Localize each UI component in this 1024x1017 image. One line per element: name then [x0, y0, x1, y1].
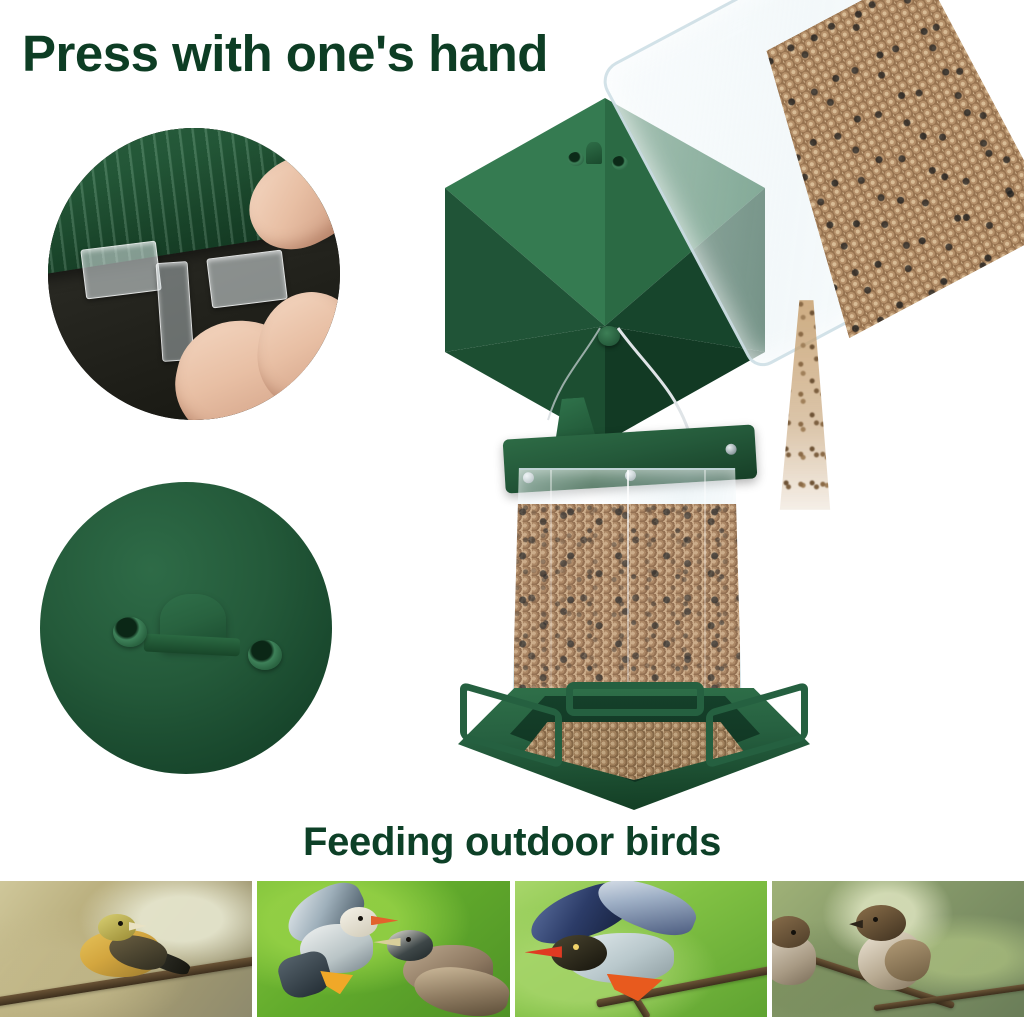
bird-eye	[791, 930, 796, 935]
bird-beak	[525, 946, 562, 957]
bird-head	[387, 930, 433, 960]
photo-greenfinch-on-branch	[0, 881, 252, 1017]
hanging-tab	[160, 594, 226, 650]
roof-grommet-left	[568, 152, 584, 166]
bird-eye	[118, 921, 123, 926]
photo-tree-sparrows	[772, 881, 1024, 1017]
grommet-hole-left	[113, 617, 147, 647]
bird-starling-right	[373, 925, 509, 1017]
photo-starlings-in-flight	[257, 881, 509, 1017]
perch-rail-back	[566, 682, 704, 716]
bird-photo-strip	[0, 881, 1024, 1017]
bird-beak	[129, 922, 147, 931]
section-caption: Feeding outdoor birds	[0, 820, 1024, 865]
roof-center-hub	[598, 326, 620, 346]
bird-eye	[406, 937, 411, 942]
bird-blue-magpie	[525, 889, 712, 1003]
product-marketing-image: Press with one's hand	[0, 0, 1024, 1017]
feeder-base-tray	[458, 660, 810, 820]
bird-eye	[358, 916, 363, 921]
screw-right	[725, 443, 737, 455]
grommet-hole-right	[248, 640, 282, 670]
roof-hanging-tab	[586, 142, 602, 164]
inset-hand-pressing-lid	[48, 128, 340, 420]
bird-sparrow-right	[847, 903, 933, 998]
bird-greenfinch	[76, 911, 187, 990]
lid-clip-right	[206, 249, 287, 308]
inset-roof-grommets	[40, 482, 332, 774]
lid-clip-left	[80, 240, 161, 299]
bird-sparrow-left	[772, 916, 822, 992]
bird-head	[856, 905, 906, 941]
roof-grommet-right	[612, 156, 628, 170]
photo-blue-magpie-landing	[515, 881, 767, 1017]
bird-feet	[320, 971, 353, 994]
